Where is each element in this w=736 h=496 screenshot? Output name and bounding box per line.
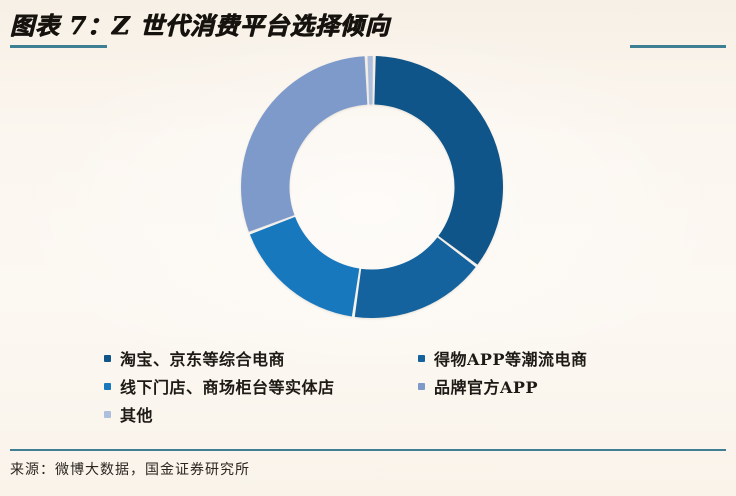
donut-slice[interactable] bbox=[250, 217, 359, 317]
legend-label-comprehensive-ecommerce: 淘宝、京东等综合电商 bbox=[120, 346, 285, 370]
source-note: 来源：微博大数据，国金证券研究所 bbox=[10, 459, 250, 479]
legend-column-right: 得物APP等潮流电商 品牌官方APP bbox=[418, 344, 587, 400]
legend-item-other[interactable]: 其他 bbox=[104, 400, 335, 428]
legend-swatch-other bbox=[104, 411, 111, 418]
donut-slice[interactable] bbox=[241, 56, 367, 231]
legend-swatch-offline-stores bbox=[104, 383, 111, 390]
legend-item-comprehensive-ecommerce[interactable]: 淘宝、京东等综合电商 bbox=[104, 344, 335, 372]
donut-slice-group bbox=[241, 56, 503, 318]
legend-swatch-trend-ecommerce bbox=[418, 355, 425, 362]
legend-swatch-comprehensive-ecommerce bbox=[104, 355, 111, 362]
legend-label-brand-app: 品牌官方APP bbox=[434, 374, 538, 398]
header-rule-left bbox=[10, 45, 107, 48]
legend-item-offline-stores[interactable]: 线下门店、商场柜台等实体店 bbox=[104, 372, 335, 400]
legend-swatch-brand-app bbox=[418, 383, 425, 390]
legend-item-brand-app[interactable]: 品牌官方APP bbox=[418, 372, 587, 400]
legend-column-left: 淘宝、京东等综合电商 线下门店、商场柜台等实体店 其他 bbox=[104, 344, 335, 428]
legend-label-other: 其他 bbox=[120, 402, 153, 426]
donut-chart-svg bbox=[237, 52, 507, 322]
footer-rule bbox=[10, 449, 726, 451]
chart-figure-page: 图表 7：Z 世代消费平台选择倾向 淘宝、京东等综合电商 线下门店、商场柜台等实… bbox=[0, 0, 736, 496]
donut-slice[interactable] bbox=[368, 56, 373, 105]
chart-legend: 淘宝、京东等综合电商 线下门店、商场柜台等实体店 其他 得物APP等潮流电商 品… bbox=[104, 344, 664, 428]
legend-label-offline-stores: 线下门店、商场柜台等实体店 bbox=[120, 374, 335, 398]
page-title: 图表 7：Z 世代消费平台选择倾向 bbox=[10, 6, 390, 41]
legend-item-trend-ecommerce[interactable]: 得物APP等潮流电商 bbox=[418, 344, 587, 372]
header-rule-right bbox=[630, 45, 726, 48]
legend-label-trend-ecommerce: 得物APP等潮流电商 bbox=[434, 346, 587, 370]
donut-slice[interactable] bbox=[374, 56, 503, 265]
donut-chart bbox=[237, 52, 507, 322]
